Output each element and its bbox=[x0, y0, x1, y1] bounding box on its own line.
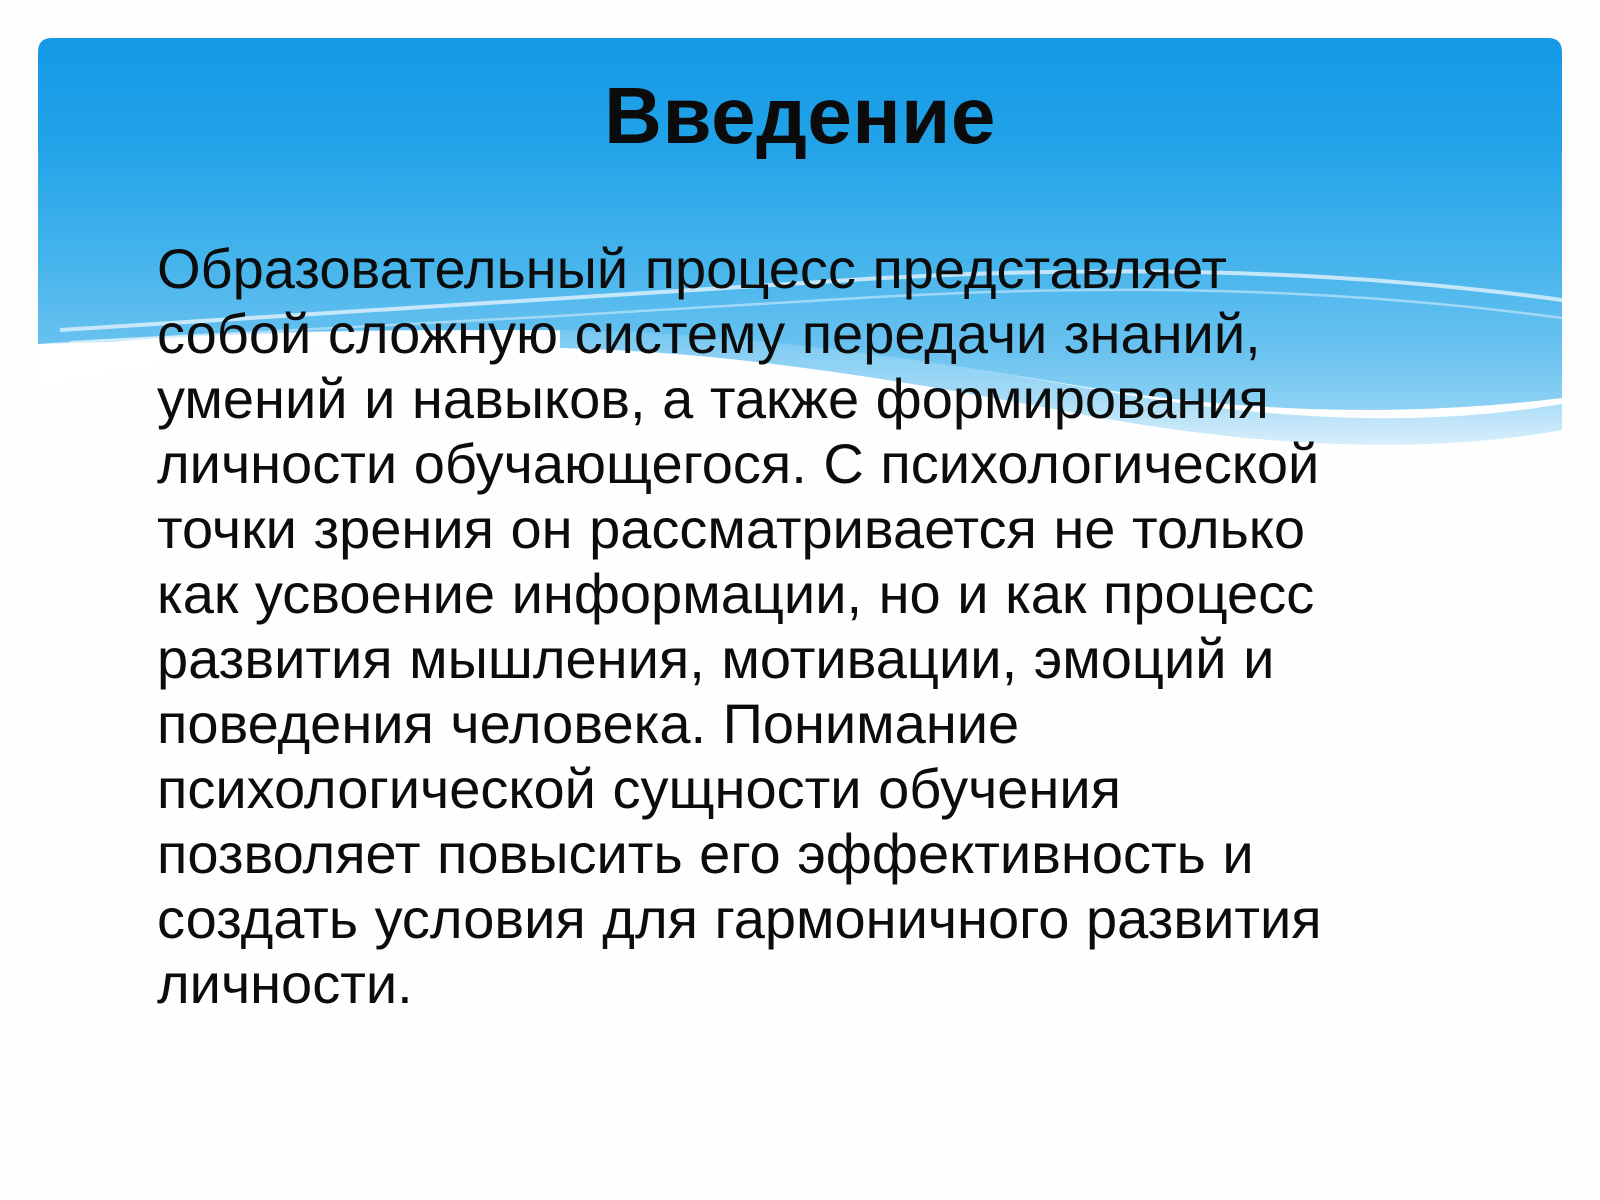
slide-canvas: Введение Образовательный процесс предста… bbox=[0, 0, 1600, 1200]
slide-body-text: Образовательный процесс представляет соб… bbox=[157, 236, 1387, 1016]
slide-title: Введение bbox=[38, 74, 1562, 158]
